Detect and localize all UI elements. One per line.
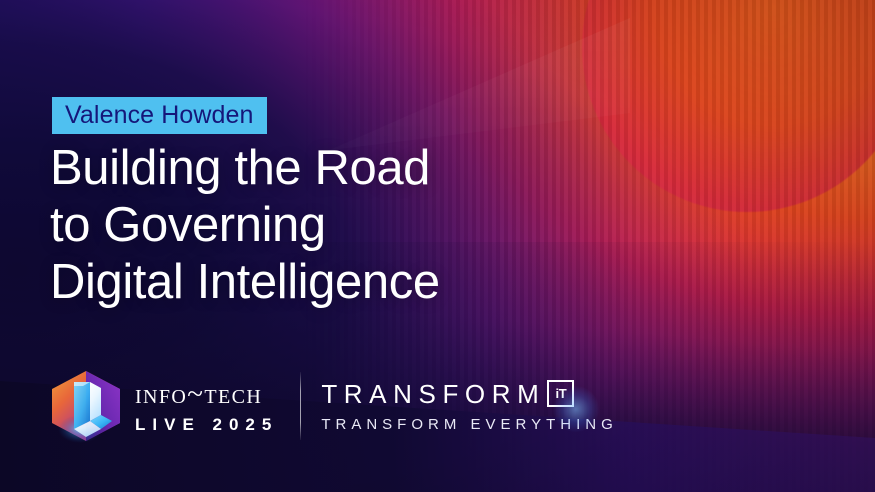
infotech-wordmark: Info~Tech LIVE 2025 bbox=[135, 379, 278, 433]
transform-name: TRANSFORM bbox=[321, 381, 545, 407]
it-badge-icon: iT bbox=[547, 380, 574, 407]
it-badge-label: iT bbox=[556, 387, 567, 400]
transform-wordmark: TRANSFORM iT TRANSFORM EVERYTHING bbox=[321, 380, 617, 432]
presentation-slide: Valence Howden Building the Road to Gove… bbox=[0, 0, 875, 492]
infotech-cube-logo-icon bbox=[50, 369, 122, 443]
infotech-event-year: LIVE 2025 bbox=[135, 416, 278, 433]
lockup-divider bbox=[300, 372, 301, 440]
transform-tagline: TRANSFORM EVERYTHING bbox=[321, 417, 617, 432]
speaker-name-badge: Valence Howden bbox=[52, 97, 267, 134]
infotech-name: Info~Tech bbox=[135, 379, 278, 409]
slide-content: Valence Howden Building the Road to Gove… bbox=[0, 0, 875, 492]
brand-lockup: Info~Tech LIVE 2025 TRANSFORM iT TRANSFO… bbox=[50, 368, 618, 444]
slide-title: Building the Road to Governing Digital I… bbox=[50, 140, 440, 311]
transform-name-row: TRANSFORM iT bbox=[321, 380, 617, 407]
